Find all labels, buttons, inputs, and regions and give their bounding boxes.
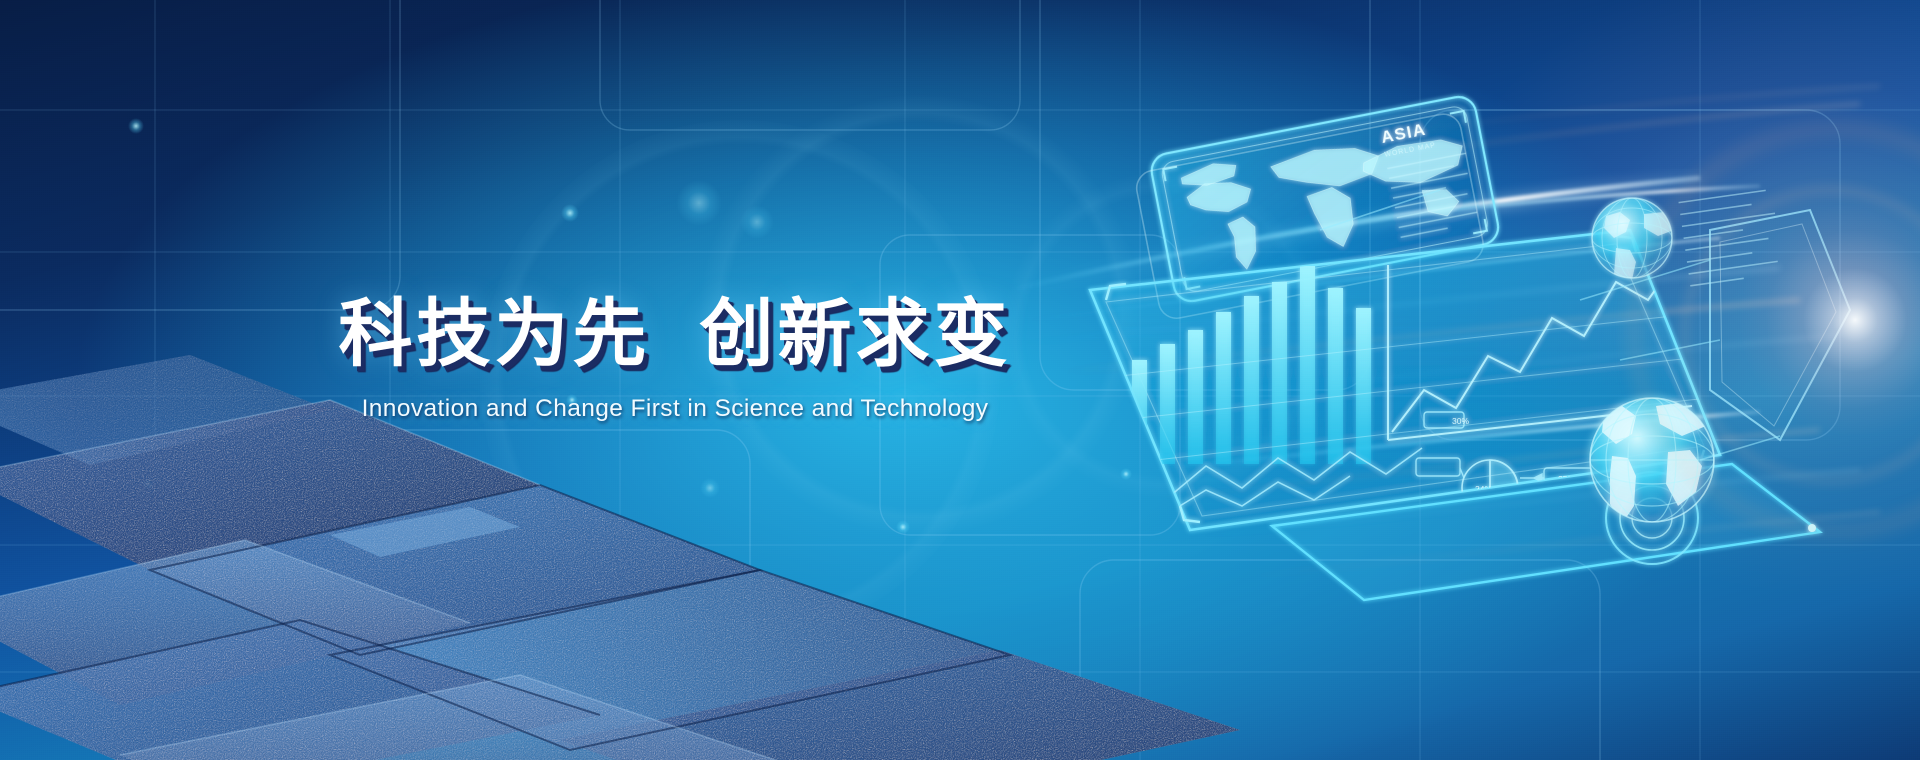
lens-flare-ring-inner (1680, 185, 1920, 485)
world-map-panel: ASIA WORLD MAP (1149, 94, 1502, 304)
lens-flare-ring (1625, 120, 1920, 540)
holo-bar-chart (1132, 266, 1371, 464)
decor-circle-small (1000, 170, 1330, 500)
noise-overlay (0, 0, 1920, 760)
glow-dot (700, 478, 720, 498)
light-streaks (0, 0, 1920, 760)
lens-flare-core (1740, 205, 1920, 435)
holo-base-plate (1272, 464, 1820, 600)
holo-side-panel (1710, 210, 1850, 440)
holo-globe-bottom (1590, 398, 1714, 524)
holo-chart-screen: 30% 24% 25% 21% (1090, 230, 1720, 550)
holo-percent-3: 21% (1475, 536, 1492, 546)
glow-dot (676, 180, 722, 226)
glow-dot (142, 478, 154, 490)
hologram-cluster: ASIA WORLD MAP (1020, 60, 1920, 620)
holo-percent-2: 25% (1558, 474, 1575, 484)
holo-percent-1: 24% (1475, 484, 1492, 494)
glow-dot (561, 204, 579, 222)
holo-pie-chart (1462, 460, 1518, 516)
holo-percent-0: 30% (1452, 416, 1469, 426)
decor-circle-medium (700, 95, 1140, 535)
holo-line-chart (1388, 256, 1692, 440)
glow-dot (566, 394, 578, 406)
decor-circle-large (480, 120, 1000, 640)
holo-side-text (1679, 190, 1784, 286)
glow-dot (1120, 468, 1132, 480)
headline-block: 科技为先 创新求变 Innovation and Change First in… (0, 295, 1350, 423)
glow-dot (896, 520, 910, 534)
hero-banner: ASIA WORLD MAP (0, 0, 1920, 760)
tech-grid (0, 0, 1920, 760)
page-title: 科技为先 创新求变 (0, 295, 1350, 373)
holo-small-line-chart (1170, 448, 1422, 512)
holo-connector-lines (1320, 190, 1780, 460)
glow-dot (740, 205, 774, 239)
page-subtitle: Innovation and Change First in Science a… (0, 395, 1350, 423)
isometric-polygons (0, 355, 1250, 760)
holo-globe-top (1592, 198, 1678, 290)
glow-dot (128, 118, 144, 134)
holo-asia-label: ASIA (1379, 120, 1427, 147)
holo-map-caption: WORLD MAP (1384, 142, 1437, 159)
